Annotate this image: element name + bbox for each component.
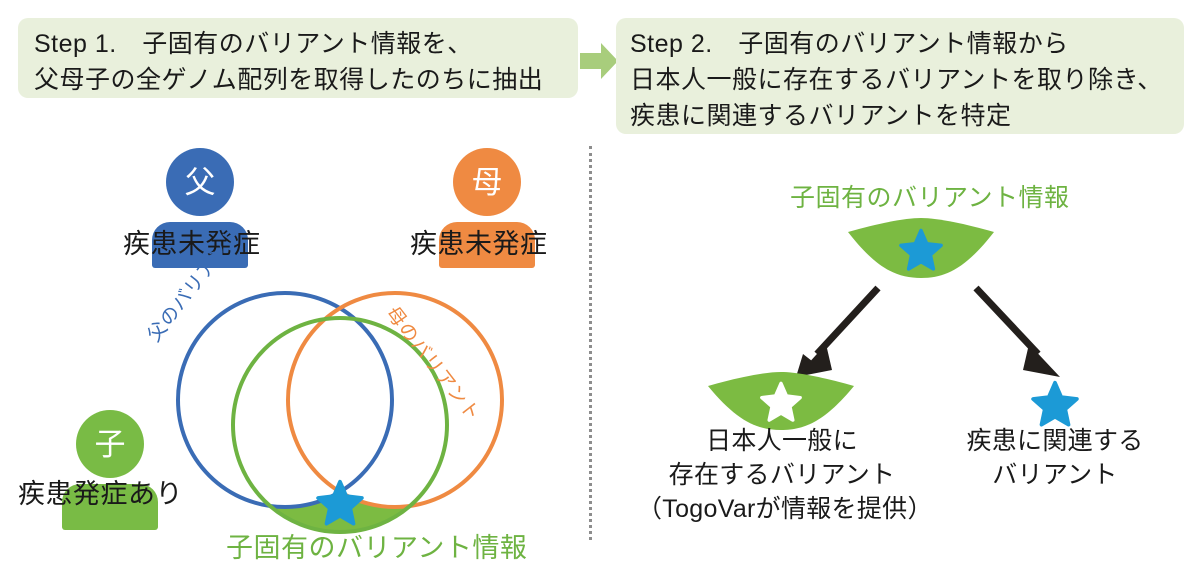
source-variant-label: 子固有のバリアント情報	[790, 178, 1050, 214]
arrow-to-disease-icon	[976, 288, 1060, 377]
common-variant-line-2: 存在するバリアント	[637, 458, 927, 492]
disease-variant-line-2: バリアント	[930, 458, 1180, 492]
right-arrow-icon	[578, 40, 620, 82]
step-2-line-3: 疾患に関連するバリアントを特定	[630, 98, 1170, 134]
source-variant-shape	[846, 216, 996, 282]
disease-variant-label: 疾患に関連する バリアント	[930, 424, 1180, 492]
step-2-line-2: 日本人一般に存在するバリアントを取り除き、	[630, 62, 1170, 98]
disease-variant-line-1: 疾患に関連する	[930, 424, 1180, 458]
mother-head-glyph: 母	[453, 148, 521, 216]
step-1-banner: Step 1. 子固有のバリアント情報を、 父母子の全ゲノム配列を取得したのちに…	[18, 18, 578, 98]
father-head-glyph: 父	[166, 148, 234, 216]
mother-status-label: 疾患未発症	[410, 222, 548, 261]
panel-divider	[589, 146, 592, 540]
common-variant-line-3: （TogoVarが情報を提供）	[637, 492, 927, 526]
step-1-line-2: 父母子の全ゲノム配列を取得したのちに抽出	[34, 62, 564, 98]
common-variant-line-1: 日本人一般に	[637, 424, 927, 458]
diagram-canvas: Step 1. 子固有のバリアント情報を、 父母子の全ゲノム配列を取得したのちに…	[0, 0, 1200, 582]
step-2-banner: Step 2. 子固有のバリアント情報から 日本人一般に存在するバリアントを取り…	[616, 18, 1184, 134]
venn-caption: 子固有のバリアント情報	[226, 526, 527, 565]
blue-star-icon	[1033, 383, 1077, 425]
step-2-line-1: Step 2. 子固有のバリアント情報から	[630, 26, 1170, 62]
common-variant-label: 日本人一般に 存在するバリアント （TogoVarが情報を提供）	[637, 424, 927, 526]
child-head-glyph: 子	[76, 410, 144, 478]
disease-variant-shape	[1029, 378, 1081, 430]
step-1-line-1: Step 1. 子固有のバリアント情報を、	[34, 26, 564, 62]
arrow-to-common-icon	[796, 288, 878, 377]
